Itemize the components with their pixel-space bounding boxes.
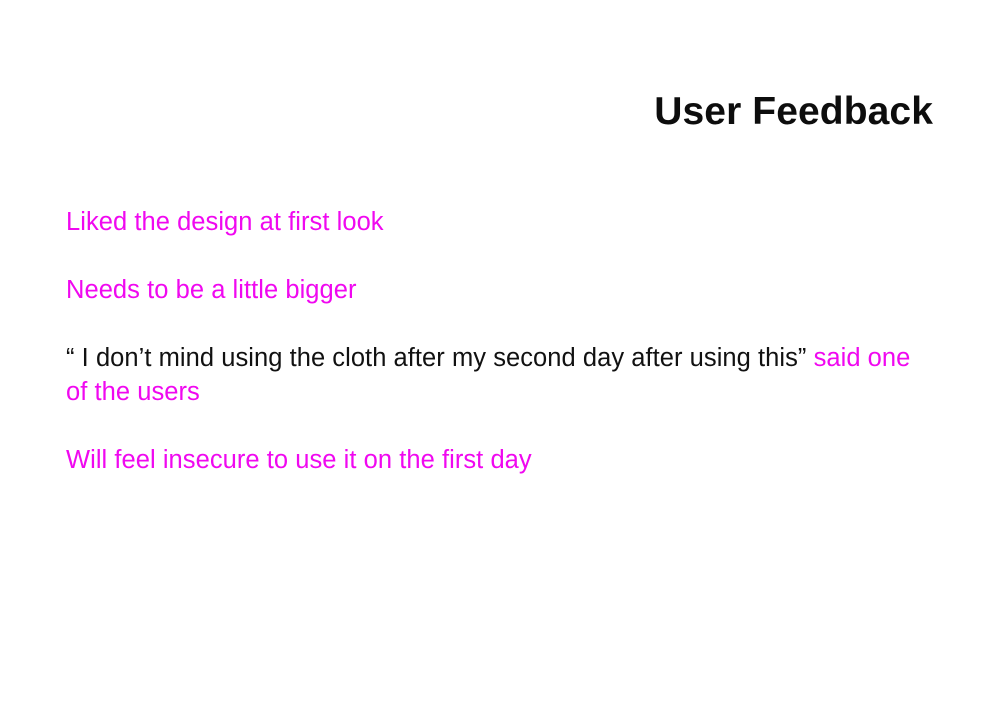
feedback-item-liked-design: Liked the design at first look [66, 205, 936, 239]
feedback-item-needs-bigger: Needs to be a little bigger [66, 273, 936, 307]
feedback-item-insecure-first-day: Will feel insecure to use it on the firs… [66, 443, 936, 477]
page-title: User Feedback [0, 90, 933, 135]
quote-text: “ I don’t mind using the cloth after my … [66, 344, 806, 372]
feedback-list: Liked the design at first look Needs to … [66, 205, 936, 477]
slide-canvas: User Feedback Liked the design at first … [0, 0, 1000, 707]
feedback-item-user-quote: “ I don’t mind using the cloth after my … [66, 341, 936, 409]
